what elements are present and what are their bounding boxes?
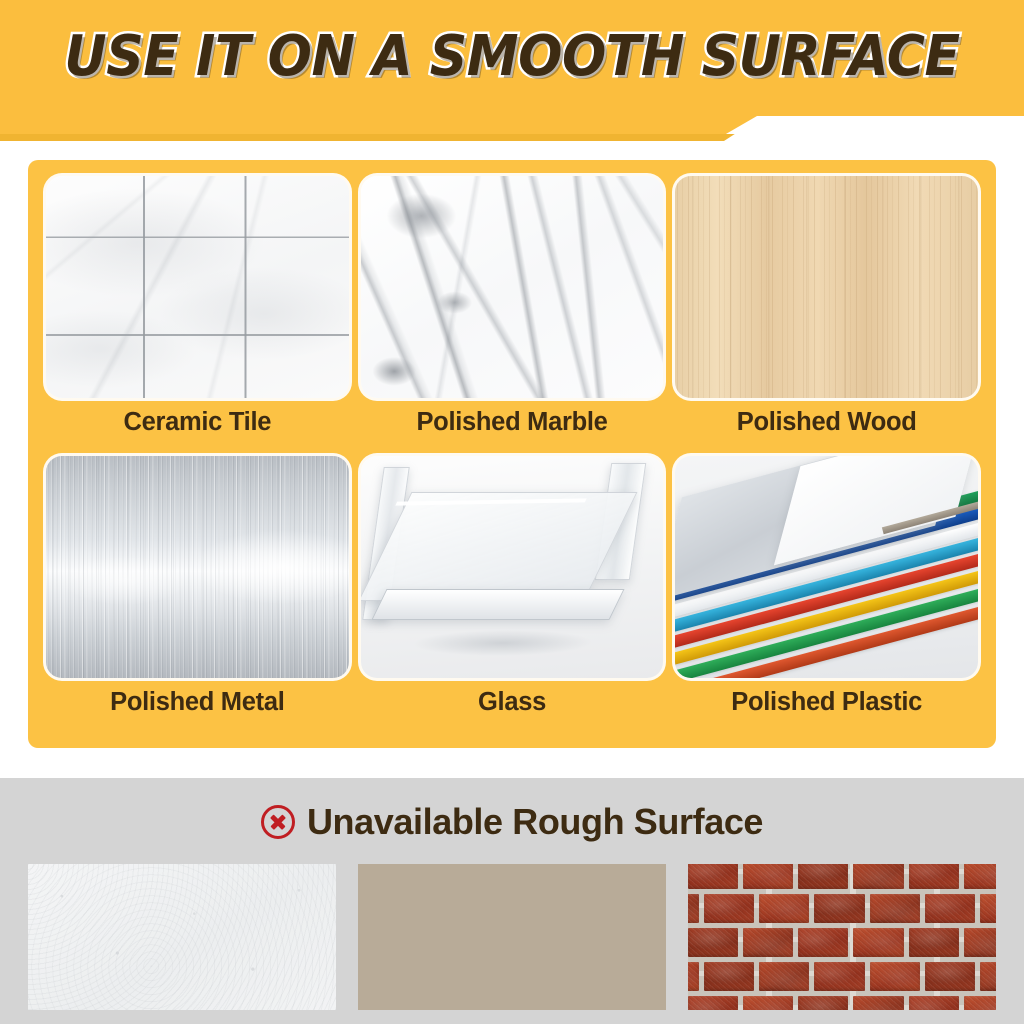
- polished-metal-image: [46, 456, 349, 678]
- rough-surface-heading: Unavailable Rough Surface: [0, 794, 1024, 850]
- surface-card-ceramic-tile: Ceramic Tile: [46, 176, 349, 452]
- smooth-surface-grid: Ceramic Tile Polished Marble Polished Wo…: [28, 160, 996, 748]
- surface-label: Polished Metal: [110, 690, 284, 716]
- polished-wood-image: [675, 176, 978, 398]
- surface-label: Polished Marble: [416, 410, 607, 436]
- surface-label: Polished Wood: [737, 410, 917, 436]
- surface-card-polished-marble: Polished Marble: [361, 176, 664, 452]
- surface-label: Glass: [478, 690, 546, 716]
- notch-thin-line: [0, 134, 1024, 141]
- rough-surface-title: Unavailable Rough Surface: [307, 804, 763, 840]
- smooth-surface-panel: Ceramic Tile Polished Marble Polished Wo…: [28, 160, 996, 748]
- rough-surface-grid: [28, 864, 996, 1010]
- glass-image: [361, 456, 664, 678]
- polished-marble-image: [361, 176, 664, 398]
- surface-card-polished-plastic: Polished Plastic: [675, 456, 978, 732]
- header-notch-separator: [0, 108, 1024, 166]
- surface-card-polished-metal: Polished Metal: [46, 456, 349, 732]
- page-title: USE IT ON A SMOOTH SURFACE: [36, 0, 988, 113]
- rough-surface-section: Unavailable Rough Surface: [0, 778, 1024, 1024]
- surface-label: Polished Plastic: [731, 690, 922, 716]
- white-stucco-wall-image: [28, 864, 336, 1010]
- surface-card-glass: Glass: [361, 456, 664, 732]
- flagstone-wall-image: [358, 864, 666, 1010]
- circled-x-icon: [261, 805, 295, 839]
- red-brick-wall-image: [688, 864, 996, 1010]
- ceramic-tile-image: [46, 176, 349, 398]
- surface-label: Ceramic Tile: [124, 410, 272, 436]
- polished-plastic-image: [675, 456, 978, 678]
- header-banner: USE IT ON A SMOOTH SURFACE: [0, 0, 1024, 113]
- surface-card-polished-wood: Polished Wood: [675, 176, 978, 452]
